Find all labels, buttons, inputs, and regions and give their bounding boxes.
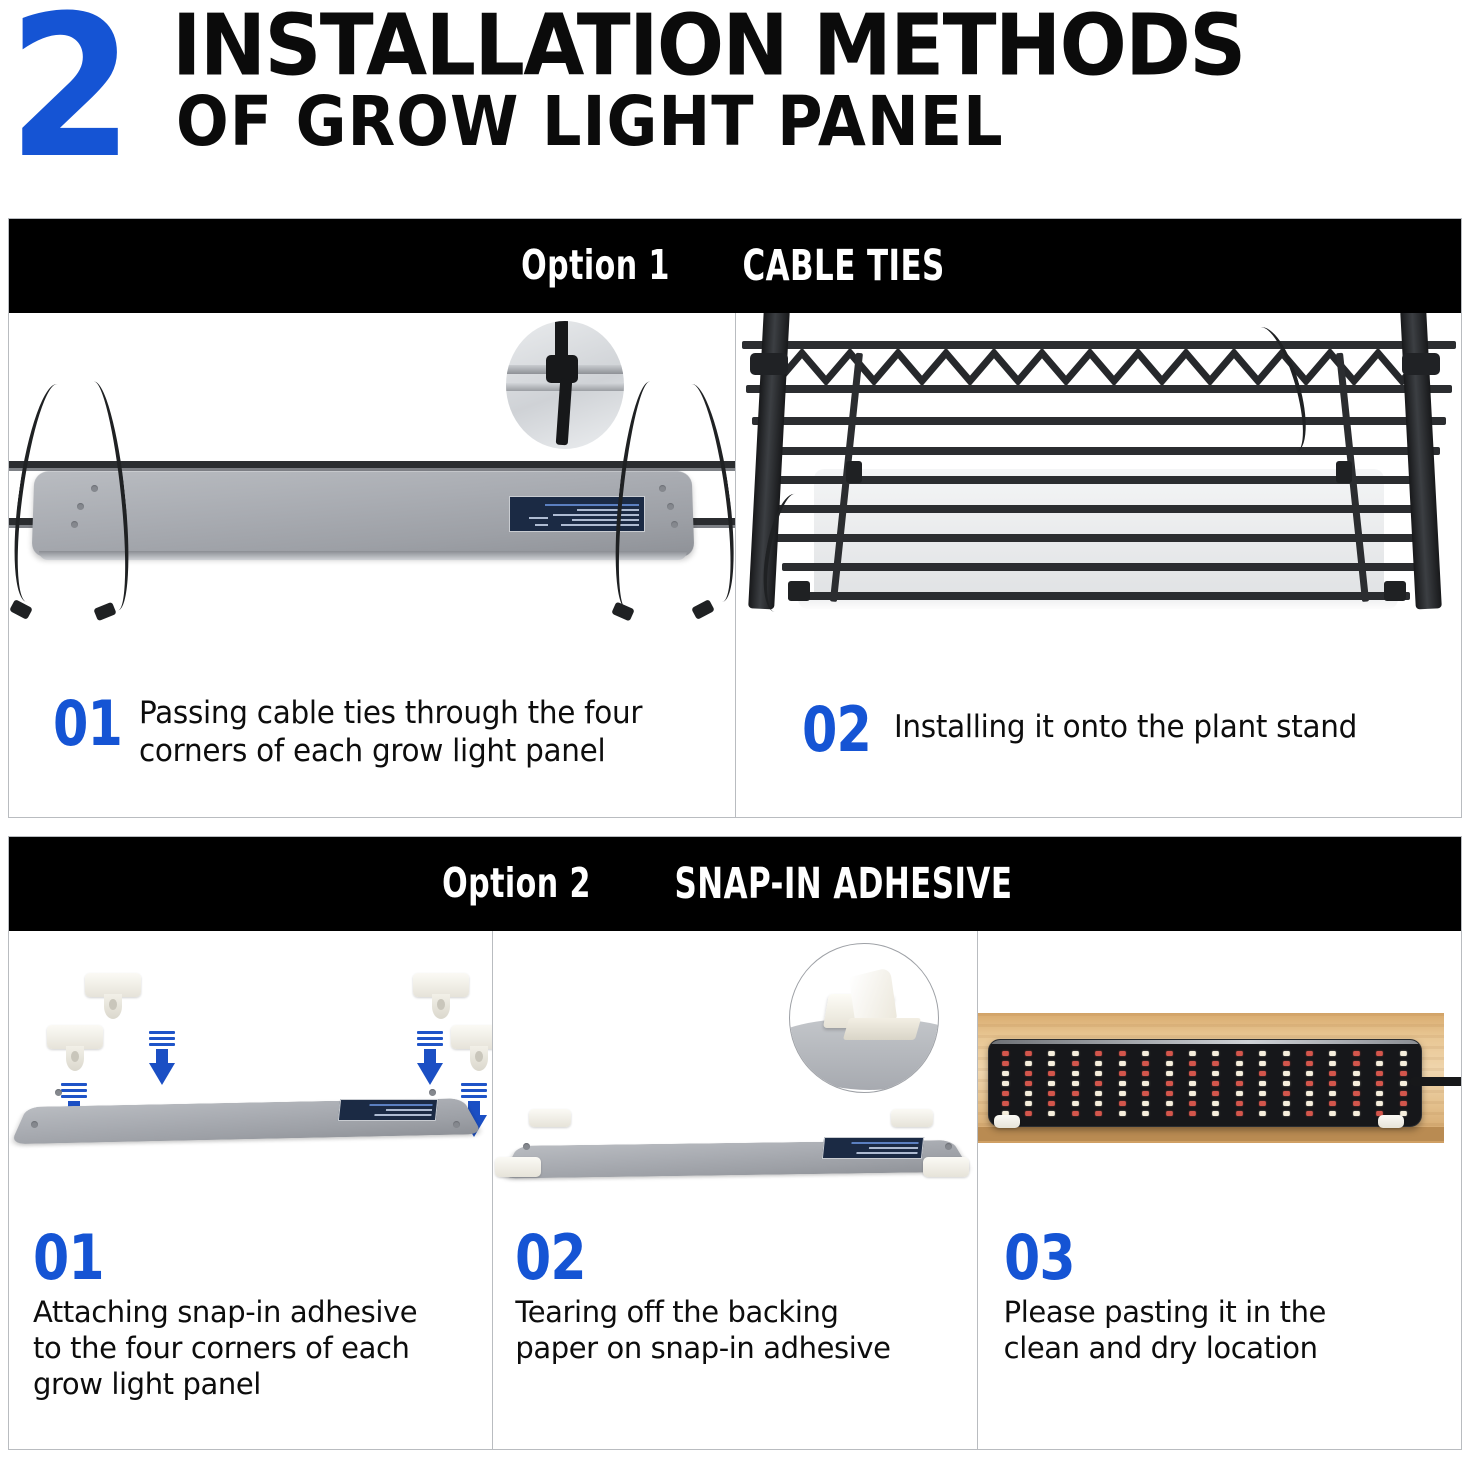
- step-cell-1-1: 01 Passing cable ties through the four c…: [9, 313, 735, 817]
- step-cell-2-3: 03 Please pasting it in the clean and dr…: [977, 931, 1461, 1449]
- led: [1329, 1081, 1336, 1086]
- led: [1002, 1081, 1009, 1086]
- led: [1119, 1081, 1126, 1086]
- led: [1189, 1111, 1196, 1116]
- led: [1259, 1071, 1266, 1076]
- shelf-truss: [772, 347, 1432, 387]
- led: [1353, 1091, 1360, 1096]
- led: [1166, 1101, 1173, 1106]
- led: [1306, 1091, 1313, 1096]
- led: [1049, 1091, 1056, 1096]
- led: [1025, 1071, 1032, 1076]
- step-cell-1-2: 02 Installing it onto the plant stand: [735, 313, 1462, 817]
- led: [1166, 1071, 1173, 1076]
- snap-in-adhesive-clip: [47, 1025, 103, 1071]
- snap-in-adhesive-clip: [891, 1109, 933, 1135]
- header-number: 2: [8, 0, 126, 186]
- led: [1166, 1111, 1173, 1116]
- led: [1400, 1091, 1407, 1096]
- led: [1166, 1051, 1173, 1056]
- led: [1002, 1071, 1009, 1076]
- led: [1142, 1101, 1149, 1106]
- led: [1025, 1111, 1032, 1116]
- led: [1330, 1061, 1337, 1066]
- option-label: Option 2: [442, 860, 591, 907]
- led: [1400, 1101, 1407, 1106]
- led: [1330, 1111, 1337, 1116]
- direction-arrow-down: [417, 1031, 443, 1085]
- banner-option-2: Option 2 SNAP-IN ADHESIVE: [9, 837, 1461, 931]
- led: [1236, 1101, 1243, 1106]
- step-text: Tearing off the backing paper on snap-in…: [515, 1295, 915, 1367]
- product-label: [338, 1099, 438, 1121]
- closeup-inset-peeling-backing-paper: [789, 943, 939, 1093]
- led: [1236, 1081, 1243, 1086]
- led: [1049, 1051, 1056, 1056]
- step-number: 01: [53, 695, 122, 752]
- led: [1072, 1061, 1079, 1066]
- led: [1142, 1051, 1149, 1056]
- led: [1283, 1071, 1290, 1076]
- cable-tie-knot: [1384, 581, 1406, 601]
- led: [1283, 1051, 1290, 1056]
- led: [1259, 1061, 1266, 1066]
- led: [1213, 1051, 1220, 1056]
- step-text: Attaching snap-in adhesive to the four c…: [33, 1295, 433, 1403]
- led: [1142, 1071, 1149, 1076]
- led: [1259, 1111, 1266, 1116]
- step-text: Installing it onto the plant stand: [894, 709, 1408, 747]
- led: [1095, 1071, 1102, 1076]
- led: [1025, 1051, 1032, 1056]
- led: [1376, 1061, 1383, 1066]
- led: [1095, 1081, 1102, 1086]
- led: [1376, 1081, 1383, 1086]
- led: [1400, 1071, 1407, 1076]
- led: [1283, 1101, 1290, 1106]
- led: [1072, 1101, 1079, 1106]
- step-caption-1-2: 02 Installing it onto the plant stand: [802, 701, 1436, 758]
- led: [1189, 1091, 1196, 1096]
- cable-tie-knot: [1336, 461, 1352, 483]
- led: [1283, 1081, 1290, 1086]
- step-number: 02: [515, 1227, 887, 1289]
- led: [1072, 1051, 1079, 1056]
- direction-arrow-down: [149, 1031, 175, 1085]
- led: [1353, 1111, 1360, 1116]
- section-option-1: Option 1 CABLE TIES: [8, 218, 1462, 818]
- led: [1119, 1111, 1126, 1116]
- led: [1189, 1061, 1196, 1066]
- led: [1166, 1091, 1173, 1096]
- led: [1072, 1111, 1079, 1116]
- led: [1353, 1101, 1360, 1106]
- led: [1002, 1051, 1009, 1056]
- led: [1212, 1101, 1219, 1106]
- led: [1119, 1061, 1126, 1066]
- led: [1072, 1071, 1079, 1076]
- led: [1306, 1081, 1313, 1086]
- led: [1212, 1071, 1219, 1076]
- led: [1283, 1111, 1290, 1116]
- led: [1330, 1051, 1337, 1056]
- led: [1049, 1071, 1056, 1076]
- snap-in-adhesive-clip: [495, 1157, 541, 1185]
- led: [1212, 1061, 1219, 1066]
- led: [1259, 1091, 1266, 1096]
- section-1-cells: 01 Passing cable ties through the four c…: [9, 313, 1461, 817]
- led: [1002, 1101, 1009, 1106]
- photo-panel-mounted-under-wood: [978, 931, 1461, 1231]
- led: [1236, 1071, 1243, 1076]
- led: [1259, 1101, 1266, 1106]
- led: [1283, 1091, 1290, 1096]
- led: [1212, 1091, 1219, 1096]
- photo-panel-on-plant-stand: [736, 313, 1462, 683]
- led: [1189, 1081, 1196, 1086]
- step-number: 01: [33, 1227, 404, 1289]
- step-caption-2-3: 03 Please pasting it in the clean and dr…: [1004, 1227, 1447, 1367]
- snap-in-adhesive-clip: [923, 1157, 969, 1185]
- led: [1353, 1051, 1360, 1056]
- banner-option-1: Option 1 CABLE TIES: [9, 219, 1461, 313]
- photo-panel-cable-ties: [9, 313, 735, 683]
- snap-in-adhesive-clip: [1378, 1115, 1404, 1133]
- closeup-inset-cable-tie-knot: [506, 321, 624, 449]
- led: [1330, 1101, 1337, 1106]
- step-caption-2-2: 02 Tearing off the backing paper on snap…: [515, 1227, 958, 1367]
- led: [1119, 1091, 1126, 1096]
- step-text: Please pasting it in the clean and dry l…: [1004, 1295, 1384, 1367]
- led: [1400, 1081, 1407, 1086]
- led: [1048, 1081, 1055, 1086]
- led: [1329, 1091, 1336, 1096]
- page-title: INSTALLATION METHODS: [172, 3, 1245, 88]
- step-text: Passing cable ties through the four corn…: [139, 695, 671, 771]
- led: [1025, 1061, 1032, 1066]
- led: [1095, 1101, 1102, 1106]
- led: [1376, 1091, 1383, 1096]
- led: [1376, 1071, 1383, 1076]
- led: [1142, 1091, 1149, 1096]
- led: [1166, 1081, 1173, 1086]
- led: [1376, 1051, 1383, 1056]
- step-caption-1-1: 01 Passing cable ties through the four c…: [53, 695, 709, 771]
- led: [1002, 1061, 1009, 1066]
- step-cell-2-2: 02 Tearing off the backing paper on snap…: [492, 931, 976, 1449]
- led: [1236, 1061, 1243, 1066]
- led-grid: [988, 1039, 1420, 1125]
- section-2-cells: 01 Attaching snap-in adhesive to the fou…: [9, 931, 1461, 1449]
- led: [1306, 1101, 1313, 1106]
- led: [1400, 1051, 1407, 1056]
- snap-in-adhesive-clip: [85, 973, 141, 1019]
- led: [1049, 1111, 1056, 1116]
- led: [1166, 1061, 1173, 1066]
- led: [1189, 1051, 1196, 1056]
- led: [1306, 1061, 1313, 1066]
- led: [1283, 1061, 1290, 1066]
- method-name: SNAP-IN ADHESIVE: [675, 860, 1013, 908]
- photo-peel-backing-paper: [493, 931, 976, 1231]
- led: [1072, 1081, 1079, 1086]
- page-subtitle: OF GROW LIGHT PANEL: [176, 88, 1004, 156]
- led: [1119, 1071, 1126, 1076]
- led: [1189, 1101, 1196, 1106]
- led: [1025, 1091, 1032, 1096]
- led: [1142, 1081, 1149, 1086]
- page-header: 2 INSTALLATION METHODS OF GROW LIGHT PAN…: [0, 0, 1470, 200]
- section-option-2: Option 2 SNAP-IN ADHESIVE: [8, 836, 1462, 1450]
- led: [1376, 1101, 1383, 1106]
- led: [1236, 1111, 1243, 1116]
- led: [1025, 1081, 1032, 1086]
- led: [1306, 1051, 1313, 1056]
- led: [1236, 1091, 1243, 1096]
- infographic-page: 2 INSTALLATION METHODS OF GROW LIGHT PAN…: [0, 0, 1470, 1459]
- led: [1306, 1071, 1313, 1076]
- led: [1306, 1111, 1313, 1116]
- snap-in-adhesive-clip: [529, 1109, 571, 1135]
- option-label: Option 1: [521, 242, 670, 289]
- step-number: 02: [802, 701, 871, 758]
- snap-in-adhesive-clip: [994, 1115, 1020, 1133]
- snap-in-adhesive-clip: [451, 1025, 492, 1071]
- led: [1259, 1081, 1266, 1086]
- led: [1353, 1071, 1360, 1076]
- led: [1353, 1061, 1360, 1066]
- led: [1002, 1091, 1009, 1096]
- led: [1049, 1101, 1056, 1106]
- step-number: 03: [1004, 1227, 1376, 1289]
- led: [1353, 1081, 1360, 1086]
- photo-clips-above-panel: [9, 931, 492, 1231]
- led: [1142, 1111, 1149, 1116]
- step-cell-2-1: 01 Attaching snap-in adhesive to the fou…: [9, 931, 492, 1449]
- snap-in-adhesive-clip: [413, 973, 469, 1019]
- led: [1095, 1111, 1102, 1116]
- method-name: CABLE TIES: [742, 242, 944, 290]
- product-label: [822, 1137, 924, 1159]
- led: [1400, 1061, 1407, 1066]
- step-caption-2-1: 01 Attaching snap-in adhesive to the fou…: [33, 1227, 474, 1403]
- led: [1095, 1061, 1102, 1066]
- led: [1329, 1071, 1336, 1076]
- led: [1259, 1051, 1266, 1056]
- led: [1119, 1051, 1126, 1056]
- led: [1049, 1061, 1056, 1066]
- led: [1119, 1101, 1126, 1106]
- cable-tie-knot: [846, 461, 862, 483]
- led: [1095, 1051, 1102, 1056]
- led: [1236, 1051, 1243, 1056]
- led: [1142, 1061, 1149, 1066]
- led: [1072, 1091, 1079, 1096]
- led: [1212, 1081, 1219, 1086]
- led: [1095, 1091, 1102, 1096]
- led: [1213, 1111, 1220, 1116]
- led: [1189, 1071, 1196, 1076]
- led: [1025, 1101, 1032, 1106]
